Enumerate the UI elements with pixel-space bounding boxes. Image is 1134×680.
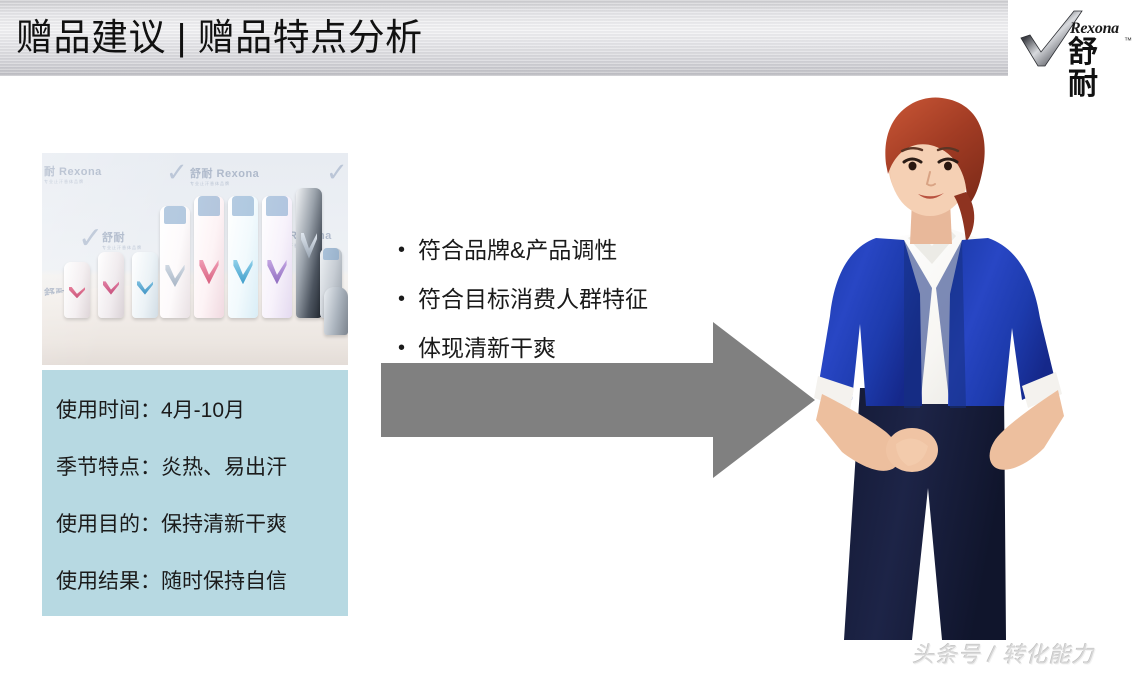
backdrop-logo-3: 舒耐专业止汗香体品牌 [102, 229, 142, 251]
model-head [885, 98, 984, 244]
backdrop-tagline-1: 专业止汗香体品牌 [44, 179, 102, 185]
bottle-check-icon-4 [165, 265, 184, 287]
list-item: • 符合品牌&产品调性 [398, 236, 728, 264]
bottle-cap-7 [266, 196, 289, 216]
list-item: • 体现清新干爽 [398, 334, 728, 362]
bottle-cap-5 [198, 196, 221, 216]
bullet-marker-icon: • [398, 285, 418, 313]
info-line-usage-period: 使用时间：4月-10月 [56, 399, 245, 423]
slide-canvas: 赠品建议 | 赠品特点分析 Rexona 舒耐 ™ 耐 Rexona专业止汗香体… [0, 0, 1134, 680]
bottle-cap-4 [164, 206, 187, 224]
businesswoman-photo [808, 88, 1134, 640]
bottle-check-icon-5 [199, 260, 218, 284]
backdrop-tagline-3: 专业止汗香体品牌 [102, 245, 142, 251]
rexona-product-lineup-photo: 耐 Rexona专业止汗香体品牌 舒耐 Rexona专业止汗香体品牌 舒耐专业止… [42, 153, 348, 365]
product-bottle-1 [64, 262, 90, 318]
bottle-check-icon-7 [267, 260, 286, 284]
info-line-season-traits: 季节特点：炎热、易出汗 [56, 456, 287, 480]
bullet-marker-icon: • [398, 334, 418, 362]
bullet-text-3: 体现清新干爽 [418, 334, 556, 362]
gift-criteria-list: • 符合品牌&产品调性 • 符合目标消费人群特征 • 体现清新干爽 [398, 236, 728, 383]
product-bottle-6 [228, 196, 258, 318]
product-bottle-2 [98, 252, 124, 318]
product-bottle-4 [160, 206, 190, 318]
backdrop-check-icon-3: ✓ [326, 157, 348, 188]
product-bottle-3 [132, 252, 158, 318]
bottle-cap-9 [323, 248, 340, 259]
backdrop-check-icon-1: ✓ [78, 221, 103, 256]
backdrop-logo-2: 舒耐 Rexona专业止汗香体品牌 [190, 165, 259, 187]
trademark-symbol: ™ [1124, 36, 1132, 45]
info-line-usage-result: 使用结果：随时保持自信 [56, 570, 287, 594]
bottle-check-icon-1 [69, 287, 86, 298]
usage-info-box: 使用时间：4月-10月 季节特点：炎热、易出汗 使用目的：保持清新干爽 使用结果… [42, 370, 348, 616]
backdrop-check-icon-2: ✓ [166, 157, 188, 188]
bullet-text-1: 符合品牌&产品调性 [418, 236, 617, 264]
bottle-check-icon-6 [233, 260, 252, 284]
product-bottle-10-stick [324, 287, 348, 335]
product-bottle-8-men [296, 188, 322, 318]
bullet-marker-icon: • [398, 236, 418, 264]
bottle-check-icon-3 [137, 281, 154, 294]
bullet-text-2: 符合目标消费人群特征 [418, 285, 648, 313]
page-title: 赠品建议 | 赠品特点分析 [16, 14, 423, 62]
watermark-text: 头条号 / 转化能力 [912, 641, 1094, 669]
bottle-check-icon-8 [301, 233, 318, 259]
brand-logo: Rexona 舒耐 ™ [1018, 6, 1126, 74]
product-bottle-7 [262, 196, 292, 318]
backdrop-logo-1: 耐 Rexona专业止汗香体品牌 [44, 163, 102, 185]
bottle-cap-6 [232, 196, 255, 216]
product-bottle-5 [194, 196, 224, 318]
bottle-check-icon-2 [103, 281, 120, 294]
backdrop-tagline-2: 专业止汗香体品牌 [190, 181, 259, 187]
info-line-usage-purpose: 使用目的：保持清新干爽 [56, 513, 287, 537]
list-item: • 符合目标消费人群特征 [398, 285, 728, 313]
